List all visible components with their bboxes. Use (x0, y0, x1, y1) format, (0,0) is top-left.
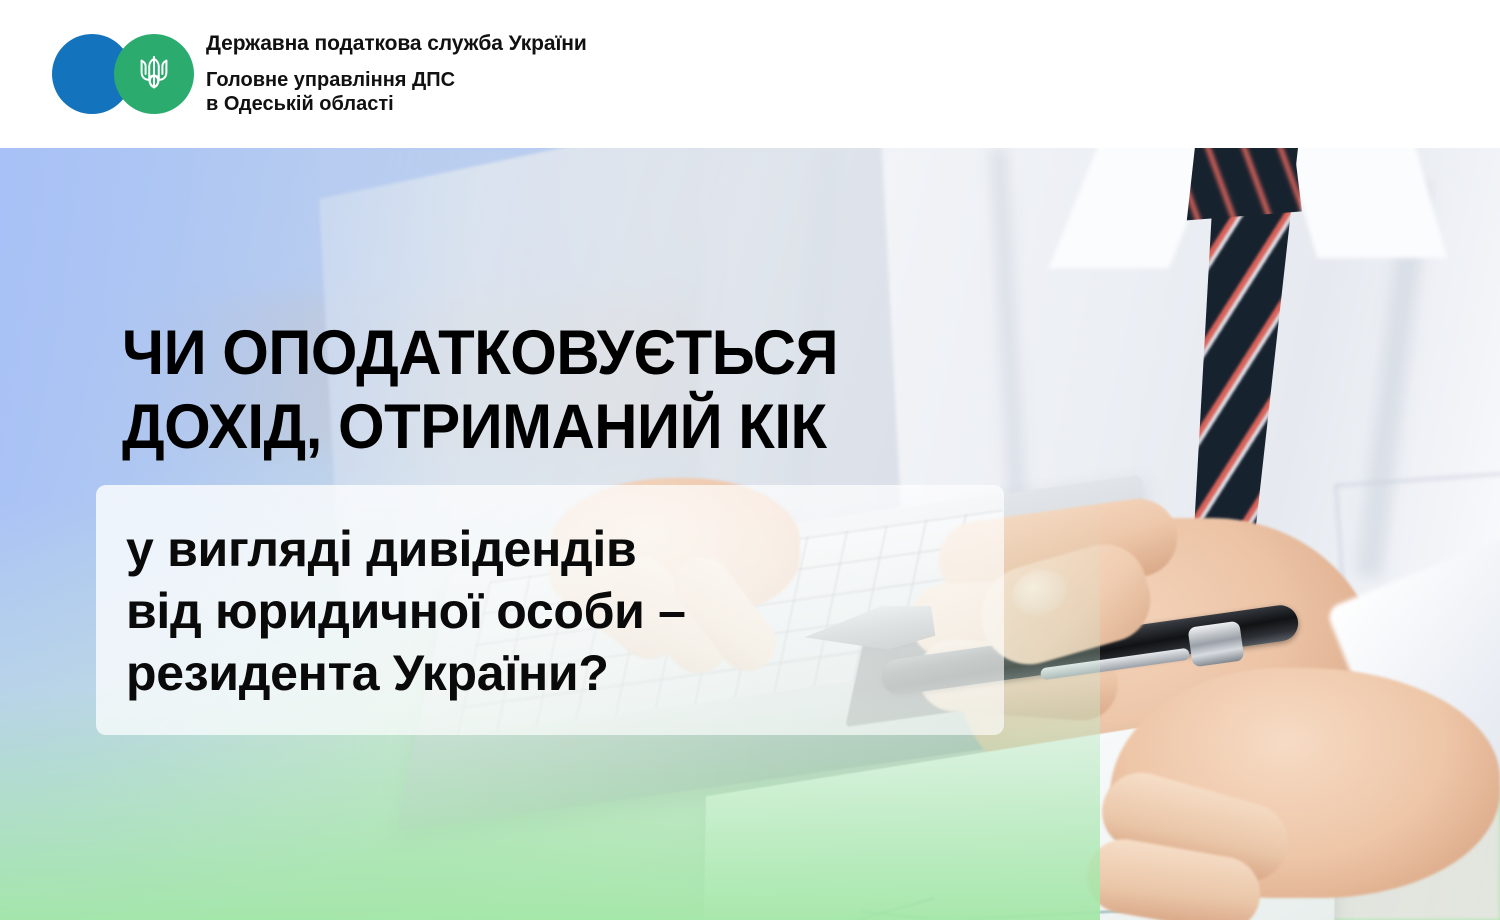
banner-header: Державна податкова служба України Головн… (0, 0, 1500, 148)
page-title: ЧИ ОПОДАТКОВУЄТЬСЯ ДОХІД, ОТРИМАНИЙ КІК (122, 316, 838, 464)
info-banner: Державна податкова служба України Головн… (0, 0, 1500, 920)
page-subtitle: у вигляді дивідендів від юридичної особи… (126, 518, 686, 704)
dps-logo (52, 34, 192, 114)
organization-subtitle: Головне управління ДПС в Одеській област… (206, 68, 587, 117)
organization-title: Державна податкова служба України (206, 32, 587, 56)
header-text-block: Державна податкова служба України Головн… (206, 32, 587, 117)
ukraine-trident-icon (134, 53, 174, 95)
